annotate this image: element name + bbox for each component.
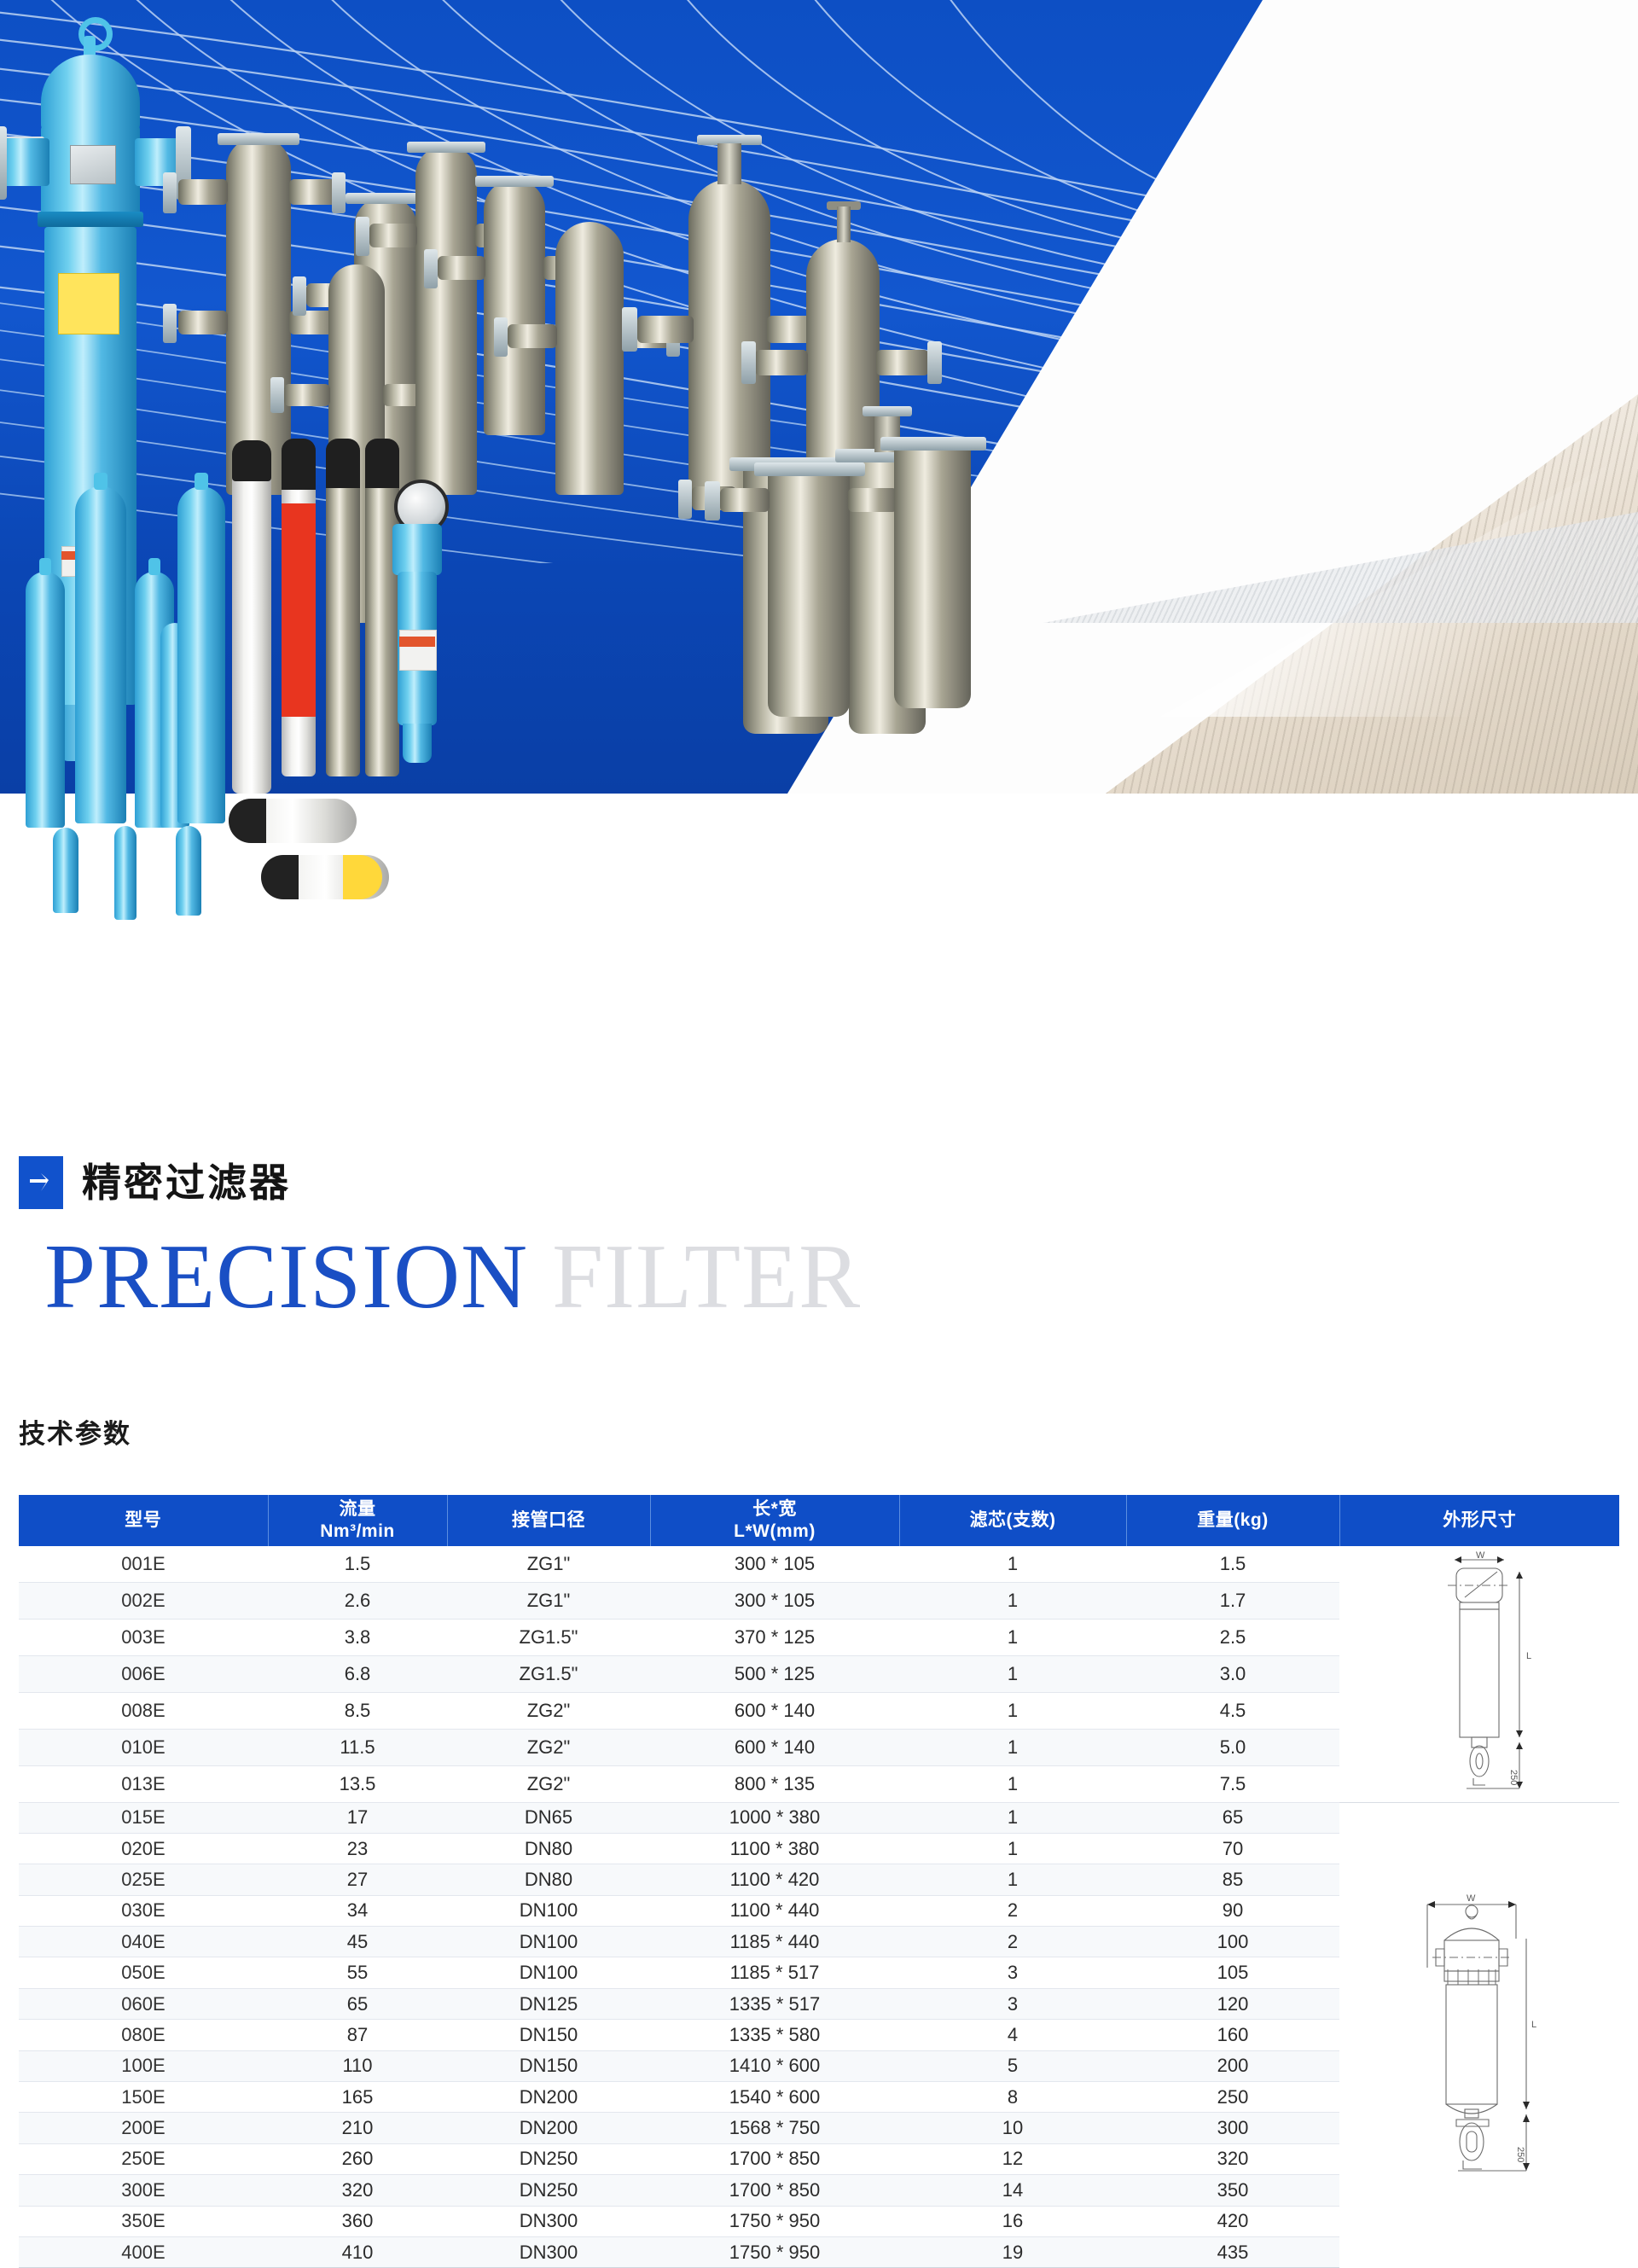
cell-length-width: 1100 * 420 (650, 1864, 899, 1895)
cell-outline-drawing-small: W L 250 (1339, 1546, 1619, 1802)
cell-weight: 3.0 (1126, 1655, 1339, 1692)
cell-port: DN100 (447, 1957, 650, 1988)
cell-flow: 87 (268, 2020, 447, 2050)
cell-port: DN65 (447, 1802, 650, 1833)
cell-elements: 2 (899, 1927, 1126, 1957)
cell-flow: 11.5 (268, 1729, 447, 1765)
cell-length-width: 1185 * 517 (650, 1957, 899, 1988)
cell-model: 200E (19, 2113, 268, 2143)
cell-weight: 7.5 (1126, 1765, 1339, 1802)
svg-text:250: 250 (1508, 1770, 1519, 1785)
cell-model: 040E (19, 1927, 268, 1957)
cell-elements: 3 (899, 1957, 1126, 1988)
cell-weight: 350 (1126, 2175, 1339, 2206)
cell-port: DN80 (447, 1833, 650, 1864)
cell-port: DN150 (447, 2050, 650, 2081)
cell-model: 300E (19, 2175, 268, 2206)
cell-flow: 1.5 (268, 1546, 447, 1582)
cell-flow: 320 (268, 2175, 447, 2206)
cell-length-width: 1410 * 600 (650, 2050, 899, 2081)
cell-flow: 45 (268, 1927, 447, 1957)
cell-port: DN80 (447, 1864, 650, 1895)
large-flanged-filter-outline-drawing: W L 250 (1407, 1886, 1552, 2184)
cell-weight: 65 (1126, 1802, 1339, 1833)
cell-flow: 3.8 (268, 1619, 447, 1655)
cell-flow: 55 (268, 1957, 447, 1988)
cell-port: DN150 (447, 2020, 650, 2050)
cell-length-width: 1750 * 950 (650, 2206, 899, 2236)
cell-port: DN125 (447, 1988, 650, 2019)
cell-outline-drawing-large: W L 250 (1339, 1802, 1619, 2268)
cell-elements: 5 (899, 2050, 1126, 2081)
cell-elements: 1 (899, 1802, 1126, 1833)
cell-port: DN100 (447, 1895, 650, 1926)
cell-model: 060E (19, 1988, 268, 2019)
cell-model: 002E (19, 1582, 268, 1619)
cell-weight: 435 (1126, 2236, 1339, 2267)
th-model: 型号 (19, 1495, 268, 1546)
cell-flow: 410 (268, 2236, 447, 2267)
table-header-row: 型号 流量 Nm³/min 接管口径 长*宽 L*W(mm) 滤芯(支数) 重量 (19, 1495, 1619, 1546)
cell-model: 010E (19, 1729, 268, 1765)
cell-port: DN250 (447, 2143, 650, 2174)
cell-weight: 100 (1126, 1927, 1339, 1957)
cell-flow: 6.8 (268, 1655, 447, 1692)
cell-weight: 85 (1126, 1864, 1339, 1895)
hero-banner (0, 0, 1638, 1050)
cell-port: ZG1.5" (447, 1619, 650, 1655)
cell-length-width: 1540 * 600 (650, 2082, 899, 2113)
cell-model: 250E (19, 2143, 268, 2174)
cell-flow: 210 (268, 2113, 447, 2143)
cell-weight: 250 (1126, 2082, 1339, 2113)
cell-port: DN300 (447, 2206, 650, 2236)
cell-elements: 3 (899, 1988, 1126, 2019)
cell-length-width: 1100 * 440 (650, 1895, 899, 1926)
cell-port: DN200 (447, 2082, 650, 2113)
th-weight: 重量(kg) (1126, 1495, 1339, 1546)
svg-text:L: L (1526, 1651, 1531, 1661)
cell-port: DN250 (447, 2175, 650, 2206)
cell-length-width: 370 * 125 (650, 1619, 899, 1655)
cell-model: 003E (19, 1619, 268, 1655)
cell-weight: 300 (1126, 2113, 1339, 2143)
product-cartridge-row (9, 469, 776, 1050)
cell-weight: 120 (1126, 1988, 1339, 2019)
cell-model: 008E (19, 1692, 268, 1729)
cell-weight: 105 (1126, 1957, 1339, 1988)
cell-flow: 260 (268, 2143, 447, 2174)
small-threaded-filter-outline-drawing: W L 250 (1415, 1546, 1543, 1802)
cell-flow: 17 (268, 1802, 447, 1833)
cell-weight: 90 (1126, 1895, 1339, 1926)
cell-weight: 320 (1126, 2143, 1339, 2174)
cell-port: ZG2" (447, 1765, 650, 1802)
cell-weight: 4.5 (1126, 1692, 1339, 1729)
cell-elements: 2 (899, 1895, 1126, 1926)
cell-flow: 65 (268, 1988, 447, 2019)
cell-elements: 1 (899, 1582, 1126, 1619)
cell-flow: 23 (268, 1833, 447, 1864)
cell-port: ZG1.5" (447, 1655, 650, 1692)
cell-model: 013E (19, 1765, 268, 1802)
table-row: 001E1.5ZG1"300 * 10511.5 W (19, 1546, 1619, 1582)
cell-length-width: 1335 * 517 (650, 1988, 899, 2019)
cell-model: 001E (19, 1546, 268, 1582)
svg-text:W: W (1467, 1893, 1476, 1904)
spec-table-wrapper: 型号 流量 Nm³/min 接管口径 长*宽 L*W(mm) 滤芯(支数) 重量 (19, 1495, 1619, 2268)
section-title-block: 精密过滤器 PRECISION FILTER (19, 1156, 1469, 1323)
cell-elements: 1 (899, 1546, 1126, 1582)
table-body: 001E1.5ZG1"300 * 10511.5 W (19, 1546, 1619, 2268)
th-port-size: 接管口径 (447, 1495, 650, 1546)
cell-model: 080E (19, 2020, 268, 2050)
cell-model: 100E (19, 2050, 268, 2081)
cell-elements: 10 (899, 2113, 1126, 2143)
cell-length-width: 600 * 140 (650, 1729, 899, 1765)
cell-model: 020E (19, 1833, 268, 1864)
section-chinese-title: 精密过滤器 (82, 1163, 291, 1202)
th-elements: 滤芯(支数) (899, 1495, 1126, 1546)
cell-elements: 14 (899, 2175, 1126, 2206)
cell-elements: 1 (899, 1619, 1126, 1655)
cell-port: DN300 (447, 2236, 650, 2267)
cell-model: 050E (19, 1957, 268, 1988)
cell-model: 006E (19, 1655, 268, 1692)
cell-elements: 1 (899, 1729, 1126, 1765)
cell-weight: 1.7 (1126, 1582, 1339, 1619)
th-outline-dimension: 外形尺寸 (1339, 1495, 1619, 1546)
cell-elements: 1 (899, 1692, 1126, 1729)
cell-weight: 70 (1126, 1833, 1339, 1864)
th-flow: 流量 Nm³/min (268, 1495, 447, 1546)
cell-length-width: 500 * 125 (650, 1655, 899, 1692)
svg-text:250: 250 (1515, 2147, 1525, 2162)
product-right-steel-pair (751, 410, 1024, 794)
cell-weight: 420 (1126, 2206, 1339, 2236)
cell-elements: 4 (899, 2020, 1126, 2050)
cell-elements: 16 (899, 2206, 1126, 2236)
cell-weight: 160 (1126, 2020, 1339, 2050)
cell-port: ZG2" (447, 1729, 650, 1765)
cell-model: 400E (19, 2236, 268, 2267)
cell-model: 150E (19, 2082, 268, 2113)
cell-port: ZG1" (447, 1582, 650, 1619)
cell-model: 025E (19, 1864, 268, 1895)
cell-model: 030E (19, 1895, 268, 1926)
cell-elements: 19 (899, 2236, 1126, 2267)
english-title-primary: PRECISION (44, 1226, 528, 1328)
cell-weight: 2.5 (1126, 1619, 1339, 1655)
cell-model: 015E (19, 1802, 268, 1833)
cell-length-width: 1185 * 440 (650, 1927, 899, 1957)
cell-elements: 12 (899, 2143, 1126, 2174)
cell-length-width: 1700 * 850 (650, 2175, 899, 2206)
cell-port: DN100 (447, 1927, 650, 1957)
cell-flow: 360 (268, 2206, 447, 2236)
th-length-width: 长*宽 L*W(mm) (650, 1495, 899, 1546)
cell-length-width: 1568 * 750 (650, 2113, 899, 2143)
arrow-right-icon (19, 1156, 63, 1209)
section-english-title: PRECISION FILTER (44, 1231, 1469, 1323)
cell-length-width: 600 * 140 (650, 1692, 899, 1729)
cell-length-width: 1000 * 380 (650, 1802, 899, 1833)
spec-heading: 技术参数 (19, 1412, 131, 1451)
svg-text:W: W (1476, 1550, 1485, 1561)
cell-length-width: 300 * 105 (650, 1582, 899, 1619)
svg-text:L: L (1531, 2020, 1536, 2030)
cell-elements: 8 (899, 2082, 1126, 2113)
cell-weight: 200 (1126, 2050, 1339, 2081)
cell-port: ZG2" (447, 1692, 650, 1729)
table-row: 015E17DN651000 * 380165 (19, 1802, 1619, 1833)
cell-flow: 8.5 (268, 1692, 447, 1729)
cell-length-width: 800 * 135 (650, 1765, 899, 1802)
cell-length-width: 1100 * 380 (650, 1833, 899, 1864)
cell-port: DN200 (447, 2113, 650, 2143)
cell-length-width: 1335 * 580 (650, 2020, 899, 2050)
spec-table: 型号 流量 Nm³/min 接管口径 长*宽 L*W(mm) 滤芯(支数) 重量 (19, 1495, 1619, 2268)
cell-flow: 110 (268, 2050, 447, 2081)
cell-model: 350E (19, 2206, 268, 2236)
cell-length-width: 1750 * 950 (650, 2236, 899, 2267)
cell-port: ZG1" (447, 1546, 650, 1582)
cell-flow: 165 (268, 2082, 447, 2113)
cell-elements: 1 (899, 1833, 1126, 1864)
cell-flow: 13.5 (268, 1765, 447, 1802)
cell-weight: 5.0 (1126, 1729, 1339, 1765)
cell-flow: 34 (268, 1895, 447, 1926)
cell-elements: 1 (899, 1655, 1126, 1692)
english-title-secondary: FILTER (552, 1226, 861, 1328)
cell-elements: 1 (899, 1864, 1126, 1895)
cell-length-width: 300 * 105 (650, 1546, 899, 1582)
cell-weight: 1.5 (1126, 1546, 1339, 1582)
cell-length-width: 1700 * 850 (650, 2143, 899, 2174)
cell-elements: 1 (899, 1765, 1126, 1802)
cell-flow: 27 (268, 1864, 447, 1895)
cell-flow: 2.6 (268, 1582, 447, 1619)
